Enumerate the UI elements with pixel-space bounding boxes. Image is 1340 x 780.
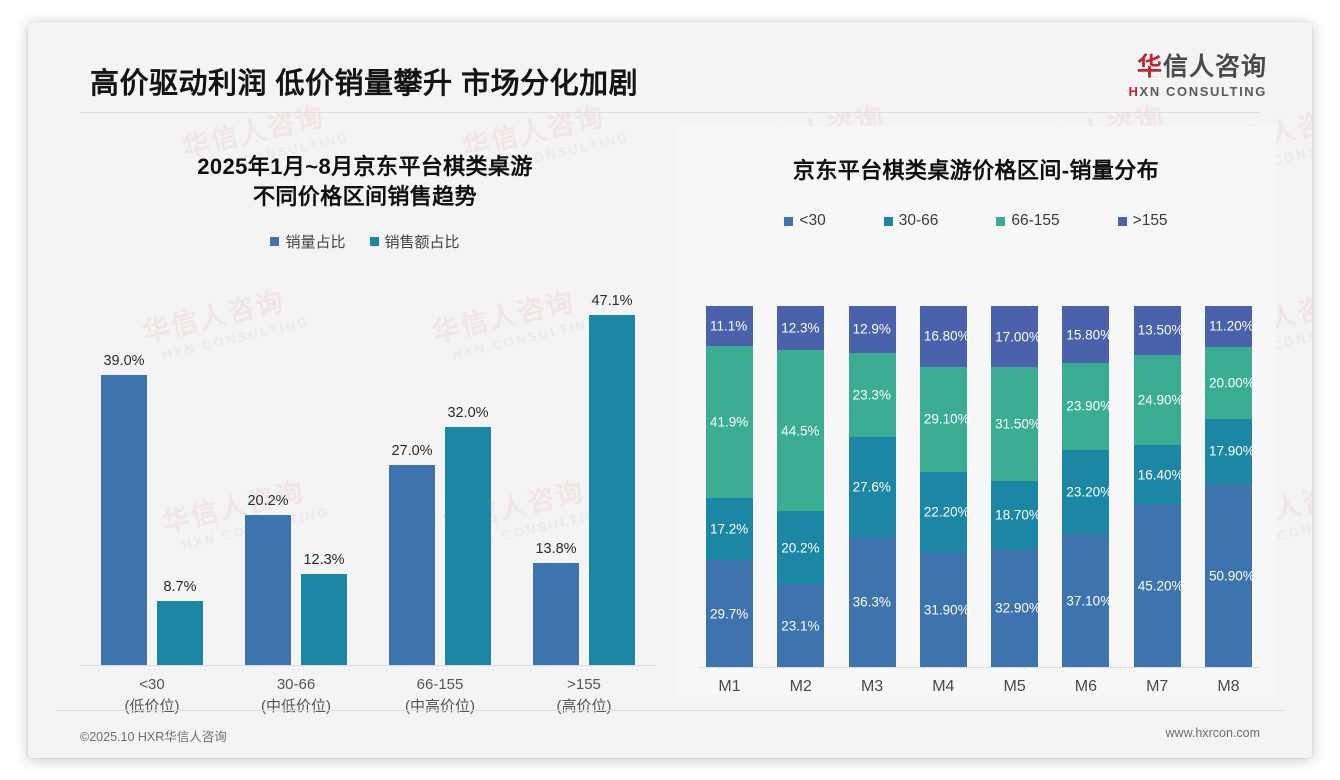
segment-value-label: 13.50%: [1138, 323, 1184, 338]
bar-group: 20.2%12.3%: [224, 278, 368, 666]
stacked-bar-segment[interactable]: 23.20%: [1062, 450, 1109, 534]
segment-value-label: 18.70%: [995, 508, 1041, 523]
bar-rect[interactable]: [589, 315, 635, 666]
title-divider: [80, 112, 1260, 113]
x-tick-label: M7: [1134, 678, 1181, 696]
segment-value-label: 12.9%: [853, 322, 891, 337]
bar-value-label: 32.0%: [447, 405, 488, 421]
bar-rect[interactable]: [389, 465, 435, 666]
segment-value-label: 17.2%: [710, 521, 748, 536]
x-tick-range: <30: [80, 674, 224, 696]
legend-item[interactable]: <30: [784, 212, 825, 230]
chart-title-left: 2025年1月~8月京东平台棋类桌游 不同价格区间销售趋势: [64, 126, 666, 213]
bar-group: 27.0%32.0%: [368, 278, 512, 666]
grouped-bar-plot: 39.0%8.7%20.2%12.3%27.0%32.0%13.8%47.1%: [80, 278, 656, 666]
stacked-bar-column[interactable]: 16.80%29.10%22.20%31.90%: [920, 306, 967, 668]
logo-en-highlight: H: [1129, 84, 1140, 99]
stacked-bar-segment[interactable]: 20.00%: [1205, 347, 1252, 419]
chart-title-left-line2: 不同价格区间销售趋势: [64, 182, 666, 212]
legend-label: 销售额占比: [385, 231, 460, 252]
segment-value-label: 16.40%: [1138, 467, 1184, 482]
stacked-bar-segment[interactable]: 22.20%: [920, 472, 967, 552]
stacked-bar-segment[interactable]: 36.3%: [849, 537, 896, 668]
segment-value-label: 11.20%: [1209, 319, 1254, 334]
bar-column[interactable]: 12.3%: [301, 278, 347, 666]
bar-rect[interactable]: [445, 427, 491, 666]
legend-item[interactable]: >155: [1118, 212, 1168, 230]
bar-group: 13.8%47.1%: [512, 278, 656, 666]
x-tick-label: M8: [1205, 678, 1252, 696]
segment-value-label: 45.20%: [1138, 579, 1184, 594]
segment-value-label: 22.20%: [924, 505, 970, 520]
x-tick-range: >155: [512, 674, 656, 696]
segment-value-label: 23.3%: [853, 387, 891, 402]
segment-value-label: 50.90%: [1209, 568, 1255, 583]
page-title: 高价驱动利润 低价销量攀升 市场分化加剧: [90, 60, 638, 102]
bar-column[interactable]: 47.1%: [589, 278, 635, 666]
bar-value-label: 13.8%: [535, 541, 576, 557]
stacked-bar-segment[interactable]: 12.3%: [777, 306, 824, 350]
stacked-bar-column[interactable]: 12.9%23.3%27.6%36.3%: [849, 306, 896, 668]
segment-value-label: 36.3%: [853, 595, 891, 610]
legend-item[interactable]: 30-66: [884, 212, 939, 230]
stacked-bar-column[interactable]: 12.3%44.5%20.2%23.1%: [777, 306, 824, 668]
footer-website: www.hxrcon.com: [1166, 726, 1260, 740]
footer-divider: [56, 710, 1284, 711]
slide-page: 华信人咨询HXN CONSULTING华信人咨询HXN CONSULTING华信…: [28, 22, 1312, 758]
segment-value-label: 20.2%: [781, 540, 819, 555]
stacked-bar-column[interactable]: 11.20%20.00%17.90%50.90%: [1205, 306, 1252, 668]
slide-header: 高价驱动利润 低价销量攀升 市场分化加剧 华信人咨询 HXN CONSULTIN…: [28, 22, 1312, 114]
chart-title-right: 京东平台棋类桌游价格区间-销量分布: [676, 126, 1276, 186]
bar-column[interactable]: 32.0%: [445, 278, 491, 666]
stacked-bar-segment[interactable]: 45.20%: [1134, 504, 1181, 668]
x-axis-line-right: [698, 667, 1260, 668]
stacked-bar-segment[interactable]: 23.3%: [849, 353, 896, 437]
stacked-bar-segment[interactable]: 31.50%: [991, 367, 1038, 481]
x-tick-range: 66-155: [368, 674, 512, 696]
stacked-bar-column[interactable]: 11.1%41.9%17.2%29.7%: [706, 306, 753, 668]
segment-value-label: 31.90%: [924, 603, 970, 618]
legend-item[interactable]: 销售额占比: [370, 231, 460, 252]
segment-value-label: 12.3%: [781, 321, 819, 336]
slide-footer: ©2025.10 HXR华信人咨询 www.hxrcon.com: [28, 722, 1312, 754]
segment-value-label: 17.00%: [995, 329, 1041, 344]
segment-value-label: 11.1%: [710, 319, 747, 334]
bar-rect[interactable]: [245, 515, 291, 666]
stacked-bar-segment[interactable]: 20.2%: [777, 511, 824, 584]
stacked-bar-segment[interactable]: 44.5%: [777, 350, 824, 511]
logo-en-rest: XN CONSULTING: [1140, 84, 1267, 99]
legend-label: 66-155: [1011, 212, 1059, 230]
stacked-bar-column[interactable]: 15.80%23.90%23.20%37.10%: [1062, 306, 1109, 668]
bar-value-label: 39.0%: [103, 353, 144, 369]
legend-item[interactable]: 66-155: [996, 212, 1059, 230]
bar-value-label: 20.2%: [247, 493, 288, 509]
bar-column[interactable]: 13.8%: [533, 278, 579, 666]
bar-column[interactable]: 39.0%: [101, 278, 147, 666]
legend-label: <30: [799, 212, 825, 230]
x-axis-line-left: [80, 665, 656, 666]
logo-cn-rest: 信人咨询: [1163, 53, 1267, 81]
x-tick-sublabel: (高价位): [512, 696, 656, 718]
stacked-bar-segment[interactable]: 18.70%: [991, 481, 1038, 549]
bar-rect[interactable]: [533, 563, 579, 666]
segment-value-label: 44.5%: [781, 423, 819, 438]
stacked-bar-segment[interactable]: 29.7%: [706, 560, 753, 668]
segment-value-label: 23.90%: [1066, 399, 1112, 414]
segment-value-label: 24.90%: [1138, 392, 1184, 407]
stacked-bar-segment[interactable]: 16.80%: [920, 306, 967, 367]
bar-value-label: 47.1%: [591, 293, 632, 309]
stacked-bar-columns: 11.1%41.9%17.2%29.7%12.3%44.5%20.2%23.1%…: [706, 306, 1252, 668]
logo-english: HXN CONSULTING: [1129, 84, 1267, 99]
legend-swatch-icon: [884, 217, 893, 226]
bar-value-label: 12.3%: [303, 552, 344, 568]
legend-label: 销量占比: [285, 231, 345, 252]
stacked-bar-segment[interactable]: 12.9%: [849, 306, 896, 353]
segment-value-label: 16.80%: [924, 329, 970, 344]
segment-value-label: 29.7%: [710, 606, 748, 621]
segment-value-label: 20.00%: [1209, 375, 1255, 390]
bar-column[interactable]: 27.0%: [389, 278, 435, 666]
stacked-bar-segment[interactable]: 23.90%: [1062, 363, 1109, 450]
legend-swatch-icon: [370, 237, 379, 246]
segment-value-label: 37.10%: [1066, 593, 1112, 608]
x-tick-sublabel: (中高价位): [368, 696, 512, 718]
legend-right: <3030-6666-155>155: [676, 212, 1276, 230]
bar-rect[interactable]: [301, 574, 347, 666]
x-tick-label: M1: [706, 678, 753, 696]
grouped-bar-groups: 39.0%8.7%20.2%12.3%27.0%32.0%13.8%47.1%: [80, 278, 656, 666]
stacked-bar-segment[interactable]: 17.90%: [1205, 419, 1252, 484]
stacked-bar-segment[interactable]: 11.20%: [1205, 306, 1252, 347]
legend-left: 销量占比销售额占比: [64, 231, 666, 252]
segment-value-label: 15.80%: [1066, 327, 1112, 342]
segment-value-label: 31.50%: [995, 417, 1041, 432]
legend-item[interactable]: 销量占比: [270, 231, 345, 252]
x-tick-label: M2: [777, 678, 824, 696]
stacked-bar-segment[interactable]: 13.50%: [1134, 306, 1181, 355]
company-logo: 华信人咨询 HXN CONSULTING: [1129, 54, 1267, 99]
stacked-bar-segment[interactable]: 23.1%: [777, 584, 824, 668]
segment-value-label: 23.20%: [1066, 484, 1112, 499]
stacked-bar-column[interactable]: 17.00%31.50%18.70%32.90%: [991, 306, 1038, 668]
bar-group: 39.0%8.7%: [80, 278, 224, 666]
x-tick-label: M3: [849, 678, 896, 696]
chart-title-left-line1: 2025年1月~8月京东平台棋类桌游: [64, 152, 666, 182]
stacked-bar-segment[interactable]: 24.90%: [1134, 355, 1181, 445]
stacked-bar-segment[interactable]: 17.00%: [991, 306, 1038, 367]
stacked-bar-plot: 11.1%41.9%17.2%29.7%12.3%44.5%20.2%23.1%…: [706, 306, 1252, 668]
legend-swatch-icon: [784, 217, 793, 226]
stacked-bar-segment[interactable]: 27.6%: [849, 437, 896, 537]
footer-copyright: ©2025.10 HXR华信人咨询: [80, 726, 227, 745]
bar-column[interactable]: 8.7%: [157, 278, 203, 666]
x-axis-labels-right: M1M2M3M4M5M6M7M8: [706, 678, 1252, 696]
stacked-bar-segment[interactable]: 37.10%: [1062, 534, 1109, 668]
segment-value-label: 32.90%: [995, 601, 1041, 616]
segment-value-label: 17.90%: [1209, 444, 1255, 459]
stacked-bar-segment[interactable]: 41.9%: [706, 346, 753, 498]
x-tick-label: M5: [991, 678, 1038, 696]
stacked-bar-segment[interactable]: 16.40%: [1134, 445, 1181, 504]
logo-chinese: 华信人咨询: [1129, 54, 1267, 80]
stacked-bar-segment[interactable]: 50.90%: [1205, 484, 1252, 668]
x-tick-label: M4: [920, 678, 967, 696]
x-tick-sublabel: (低价位): [80, 696, 224, 718]
stacked-bar-segment[interactable]: 32.90%: [991, 549, 1038, 668]
stacked-bar-segment[interactable]: 17.2%: [706, 498, 753, 560]
x-tick-range: 30-66: [224, 674, 368, 696]
legend-label: >155: [1133, 212, 1168, 230]
x-tick-sublabel: (中低价位): [224, 696, 368, 718]
bar-value-label: 8.7%: [163, 579, 196, 595]
stacked-bar-segment[interactable]: 11.1%: [706, 306, 753, 346]
bar-rect[interactable]: [157, 601, 203, 666]
stacked-bar-column[interactable]: 13.50%24.90%16.40%45.20%: [1134, 306, 1181, 668]
segment-value-label: 41.9%: [710, 415, 748, 430]
bar-rect[interactable]: [101, 375, 147, 666]
legend-swatch-icon: [270, 237, 279, 246]
bar-column[interactable]: 20.2%: [245, 278, 291, 666]
segment-value-label: 23.1%: [781, 619, 819, 634]
logo-cn-highlight: 华: [1137, 53, 1163, 81]
legend-swatch-icon: [1118, 217, 1127, 226]
segment-value-label: 27.6%: [853, 479, 891, 494]
stacked-bar-segment[interactable]: 29.10%: [920, 367, 967, 472]
segment-value-label: 29.10%: [924, 412, 970, 427]
chart-panel-left: 2025年1月~8月京东平台棋类桌游 不同价格区间销售趋势 销量占比销售额占比 …: [64, 126, 666, 696]
chart-panel-right: 京东平台棋类桌游价格区间-销量分布 <3030-6666-155>155 11.…: [676, 126, 1276, 696]
legend-label: 30-66: [899, 212, 939, 230]
stacked-bar-segment[interactable]: 31.90%: [920, 553, 967, 668]
stacked-bar-segment[interactable]: 15.80%: [1062, 306, 1109, 363]
x-tick-label: M6: [1062, 678, 1109, 696]
legend-swatch-icon: [996, 217, 1005, 226]
bar-value-label: 27.0%: [391, 443, 432, 459]
